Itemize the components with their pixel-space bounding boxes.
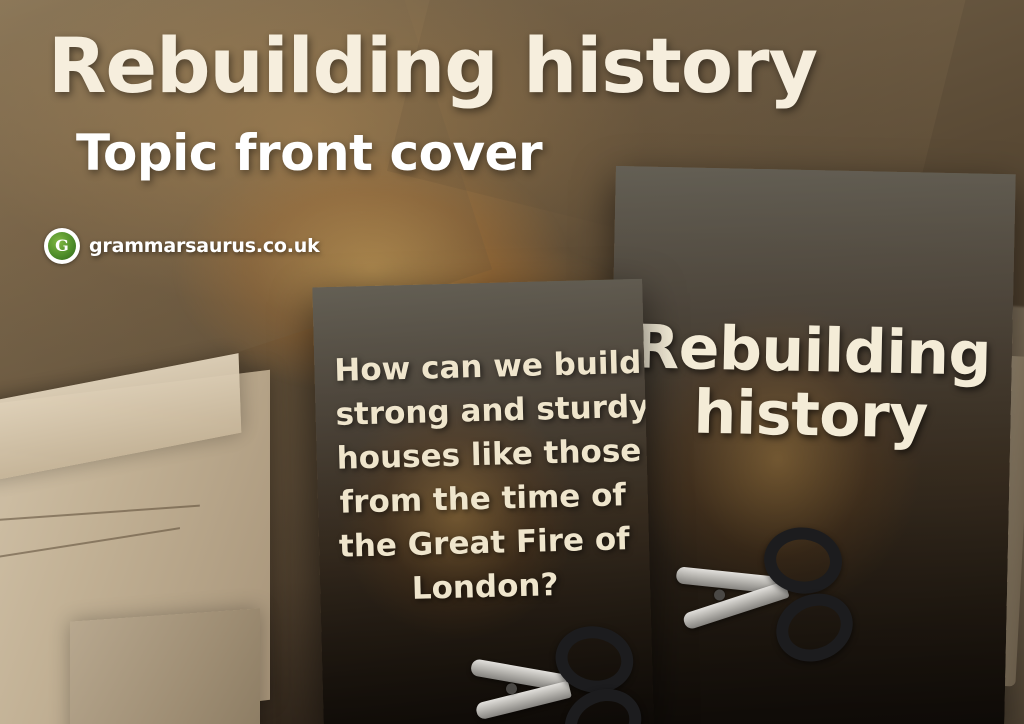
question-line-1: How can we build (334, 341, 625, 393)
poster-front-question: How can we build strong and sturdy house… (334, 341, 631, 613)
page-title: Rebuilding history (48, 28, 817, 104)
question-line-4: from the time of (337, 473, 628, 525)
logo-letter: G (48, 232, 76, 260)
question-line-5: the Great Fire of (338, 517, 629, 569)
question-line-2: strong and sturdy (335, 385, 626, 437)
question-line-6: London? (340, 561, 631, 613)
poster-back-title-line-1: Rebuilding (611, 316, 1012, 388)
brand: G grammarsaurus.co.uk (44, 228, 320, 264)
question-line-3: houses like those (336, 429, 627, 481)
grammarsaurus-logo-icon: G (44, 228, 80, 264)
brand-name: grammarsaurus.co.uk (89, 235, 320, 257)
page-subtitle: Topic front cover (76, 128, 542, 178)
poster-image: Rebuilding history How can we build stro… (0, 0, 1024, 724)
poster-back-title-line-2: history (610, 379, 1011, 451)
cardboard-box-small (70, 608, 260, 724)
poster-back-title: Rebuilding history (610, 316, 1013, 452)
